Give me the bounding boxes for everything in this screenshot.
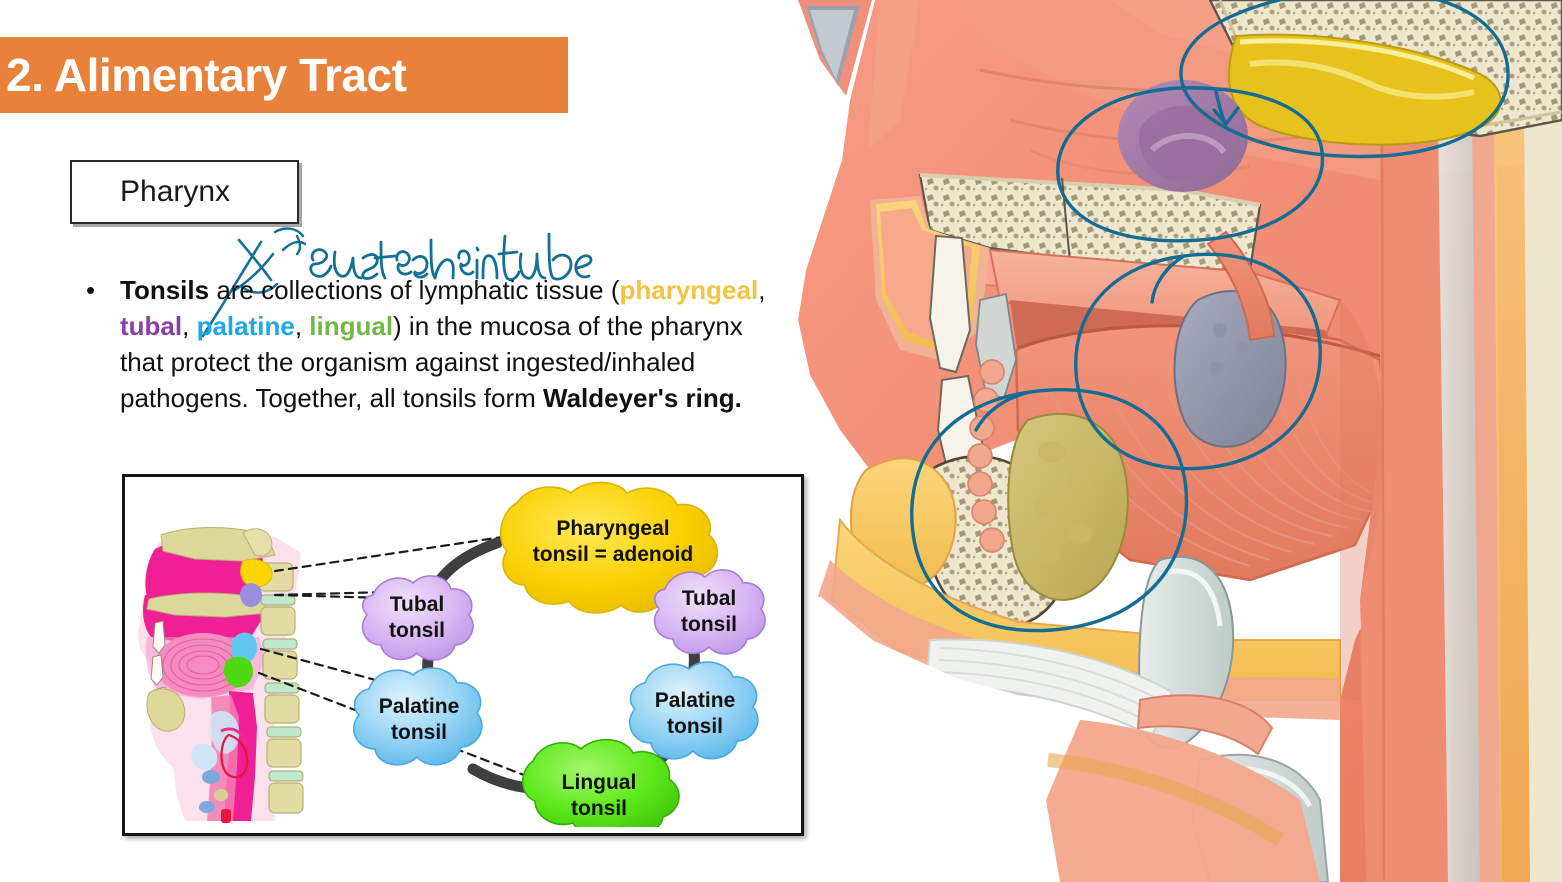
tonsils-bullet: • Tonsils are collections of lymphatic t… — [82, 272, 782, 416]
bullet-paragraph: Tonsils are collections of lymphatic tis… — [120, 272, 782, 416]
bullet-sep-1: , — [758, 275, 765, 305]
node-label-pharyngeal-line2: tonsil = adenoid — [533, 543, 693, 566]
node-label-lingual-line2: tonsil — [571, 797, 627, 820]
waldeyer-ring-figure: Pharyngeal tonsil = adenoid Tubal tonsil… — [122, 474, 804, 836]
node-label-palatine-right-line2: tonsil — [667, 715, 723, 738]
section-heading-label: Pharynx — [72, 177, 230, 207]
bullet-sep-2: , — [182, 311, 196, 341]
bullet-marker: • — [82, 272, 120, 416]
bullet-sep-3: , — [295, 311, 309, 341]
node-label-palatine-left-line2: tonsil — [391, 721, 447, 744]
bullet-term-tonsils: Tonsils — [120, 275, 209, 305]
node-label-palatine-left-line1: Palatine — [379, 695, 460, 718]
anatomy-illustration — [780, 0, 1562, 882]
node-label-tubal-left-line2: tonsil — [389, 619, 445, 642]
tonsil-type-pharyngeal: pharyngeal — [619, 275, 758, 305]
page-title: 2. Alimentary Tract — [0, 52, 406, 98]
node-label-palatine-right-line1: Palatine — [655, 689, 736, 712]
tonsil-type-tubal: tubal — [120, 311, 182, 341]
node-label-pharyngeal-line1: Pharyngeal — [556, 517, 669, 540]
node-label-tubal-right-line1: Tubal — [682, 587, 736, 610]
section-heading-box: Pharynx — [70, 160, 299, 224]
slide-canvas: 2. Alimentary Tract Pharynx — [0, 0, 1562, 882]
tonsil-type-palatine: palatine — [197, 311, 295, 341]
inset-marker-tubal — [240, 583, 262, 607]
node-label-tubal-left-line1: Tubal — [390, 593, 444, 616]
node-label-lingual-line1: Lingual — [562, 771, 637, 794]
slide-title-bar: 2. Alimentary Tract — [0, 37, 568, 113]
bullet-term-waldeyers-ring: Waldeyer's ring. — [543, 383, 742, 413]
tonsil-type-lingual: lingual — [309, 311, 393, 341]
bullet-text-segment-1: are collections of lymphatic tissue ( — [209, 275, 619, 305]
node-label-tubal-right-line2: tonsil — [681, 613, 737, 636]
